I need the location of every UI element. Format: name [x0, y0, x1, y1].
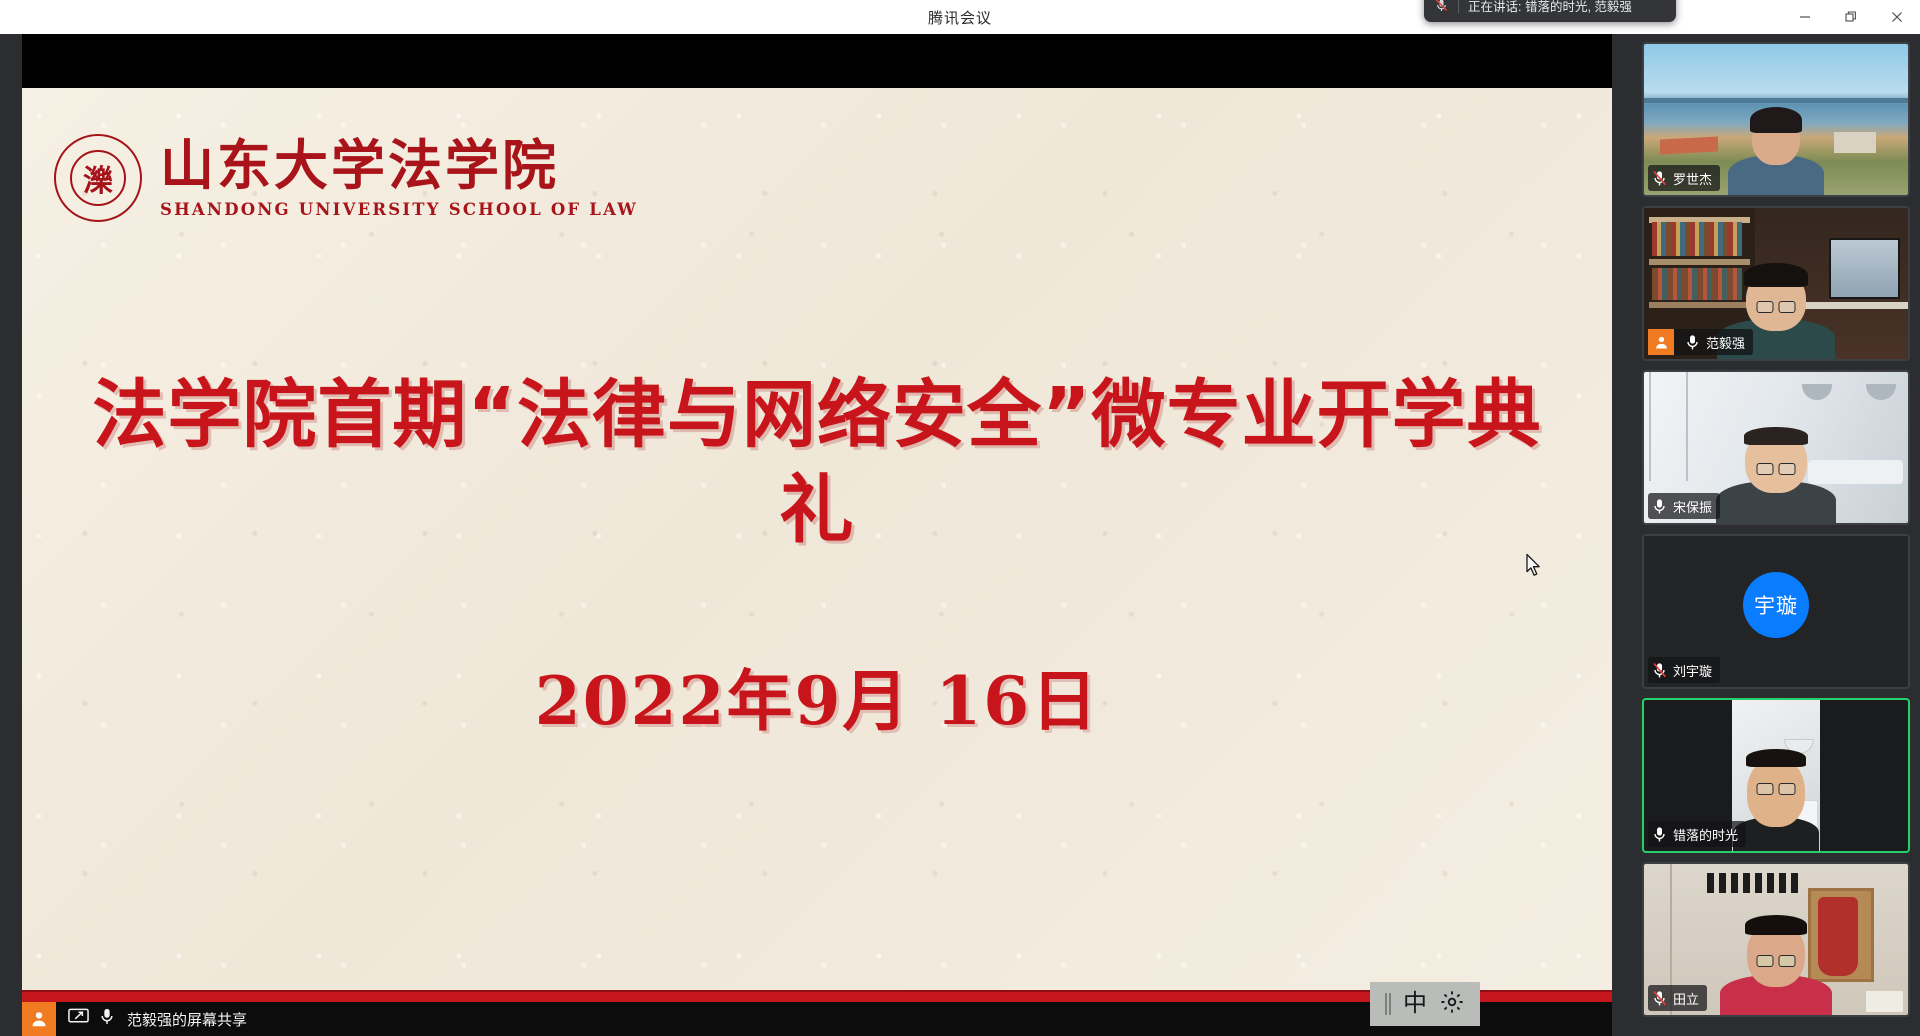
close-icon: [1891, 11, 1903, 23]
screen-share-icon: [68, 1007, 89, 1031]
participant-nameplate: 罗世杰: [1648, 165, 1720, 191]
participant-tile[interactable]: 罗世杰: [1642, 42, 1910, 197]
window-title: 腾讯会议: [928, 7, 992, 28]
person-silhouette: [1720, 917, 1832, 1015]
shared-screen-stage[interactable]: 濼 山东大学法学院 SHANDONG UNIVERSITY SCHOOL OF …: [22, 34, 1612, 1036]
restore-button[interactable]: [1828, 0, 1874, 34]
participant-nameplate: 错落的时光: [1648, 821, 1746, 847]
slide-date: 2022年9月 16日: [22, 648, 1612, 744]
university-seal-icon: 濼: [54, 134, 142, 222]
person-silhouette: [1716, 427, 1836, 523]
participant-name: 错落的时光: [1673, 825, 1738, 844]
seal-glyph: 濼: [83, 156, 113, 200]
mic-icon: [1652, 826, 1667, 843]
participant-name: 刘宇璇: [1673, 661, 1712, 680]
ime-mode-label[interactable]: 中: [1403, 992, 1427, 1016]
minimize-icon: [1799, 11, 1811, 23]
letterbox: [22, 34, 1612, 88]
share-bar-icons: [56, 1007, 115, 1031]
host-badge-icon: [22, 1002, 56, 1036]
university-logo: 濼 山东大学法学院 SHANDONG UNIVERSITY SCHOOL OF …: [54, 134, 638, 222]
avatar: 宇璇: [1743, 572, 1809, 638]
mic-icon: [99, 1007, 115, 1031]
participant-tile-active-speaker[interactable]: 错落的时光: [1642, 698, 1910, 853]
tencent-meeting-window: 腾讯会议: [0, 0, 1920, 1036]
gear-icon[interactable]: [1439, 989, 1465, 1020]
minimize-button[interactable]: [1782, 0, 1828, 34]
toast-divider: [1458, 0, 1459, 13]
participant-tile[interactable]: 宇璇 刘宇璇: [1642, 534, 1910, 689]
participant-name: 田立: [1673, 989, 1699, 1008]
participant-name: 罗世杰: [1673, 169, 1712, 188]
drag-handle-icon[interactable]: [1385, 993, 1391, 1015]
mic-icon: [1652, 498, 1667, 515]
participant-nameplate: 范毅强: [1648, 329, 1753, 355]
participant-nameplate: 田立: [1648, 985, 1707, 1011]
window-controls: [1782, 0, 1920, 34]
participant-name: 宋保振: [1673, 497, 1712, 516]
mic-muted-icon: [1434, 0, 1449, 13]
mic-muted-icon: [1652, 662, 1667, 679]
mic-icon: [1685, 334, 1700, 351]
mouse-cursor: [1525, 553, 1543, 579]
host-badge-icon: [1648, 329, 1674, 355]
slide-headline: 法学院首期“法律与网络安全”微专业开学典礼: [22, 368, 1612, 557]
ime-toolbar[interactable]: 中: [1370, 982, 1480, 1026]
speaking-toast: 正在讲话: 错落的时光, 范毅强: [1424, 0, 1676, 22]
presentation-slide: 濼 山东大学法学院 SHANDONG UNIVERSITY SCHOOL OF …: [22, 88, 1612, 1016]
person-silhouette: [1728, 121, 1824, 195]
logo-english-name: SHANDONG UNIVERSITY SCHOOL OF LAW: [160, 200, 638, 219]
participant-name: 范毅强: [1706, 333, 1745, 352]
participant-tile[interactable]: 范毅强: [1642, 206, 1910, 361]
mic-muted-icon: [1652, 170, 1667, 187]
participant-tile[interactable]: 田立: [1642, 862, 1910, 1017]
participant-nameplate: 宋保振: [1648, 493, 1720, 519]
participant-sidebar[interactable]: 罗世杰: [1634, 34, 1920, 1036]
participant-nameplate: 刘宇璇: [1648, 657, 1720, 683]
logo-chinese-name: 山东大学法学院: [160, 137, 638, 194]
restore-icon: [1845, 11, 1857, 23]
share-status-text: 范毅强的屏幕共享: [115, 1009, 247, 1030]
speaking-toast-text: 正在讲话: 错落的时光, 范毅强: [1468, 0, 1632, 15]
mic-muted-icon: [1652, 990, 1667, 1007]
participant-tile[interactable]: 宋保振: [1642, 370, 1910, 525]
close-button[interactable]: [1874, 0, 1920, 34]
